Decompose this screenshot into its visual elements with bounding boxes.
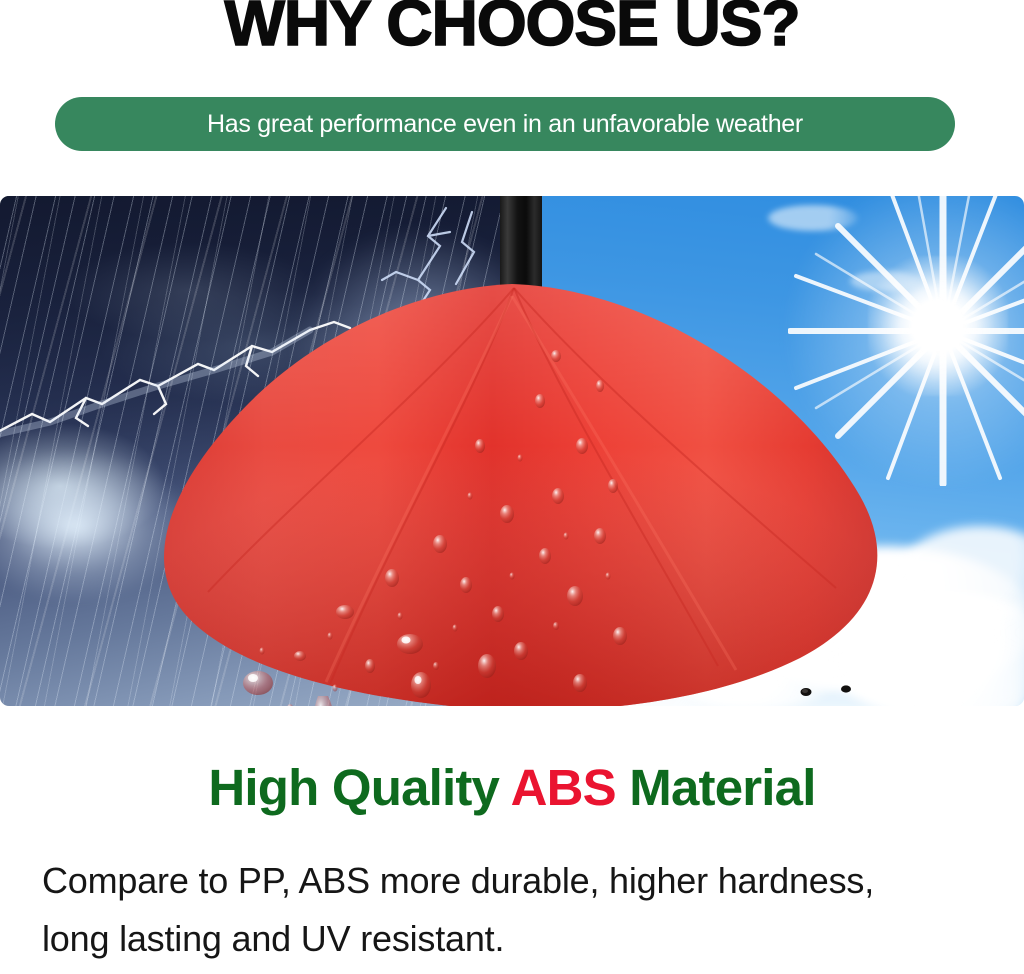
page-title: WHY CHOOSE US? bbox=[0, 0, 1024, 58]
material-heading-part1: High Quality bbox=[208, 759, 510, 816]
material-heading-part2: Material bbox=[616, 759, 816, 816]
product-feature-page: WHY CHOOSE US? Has great performance eve… bbox=[0, 0, 1024, 974]
material-heading-accent: ABS bbox=[511, 759, 616, 816]
material-description-line-1: Compare to PP, ABS more durable, higher … bbox=[42, 852, 1002, 910]
droplet-group bbox=[243, 350, 646, 706]
water-droplets bbox=[0, 196, 1024, 706]
material-description: Compare to PP, ABS more durable, higher … bbox=[42, 852, 1002, 969]
product-photo bbox=[0, 196, 1024, 706]
feature-banner: Has great performance even in an unfavor… bbox=[55, 97, 955, 151]
material-heading: High Quality ABS Material bbox=[0, 760, 1024, 815]
material-description-line-2: long lasting and UV resistant. bbox=[42, 910, 1002, 968]
feature-banner-label: Has great performance even in an unfavor… bbox=[207, 110, 803, 139]
